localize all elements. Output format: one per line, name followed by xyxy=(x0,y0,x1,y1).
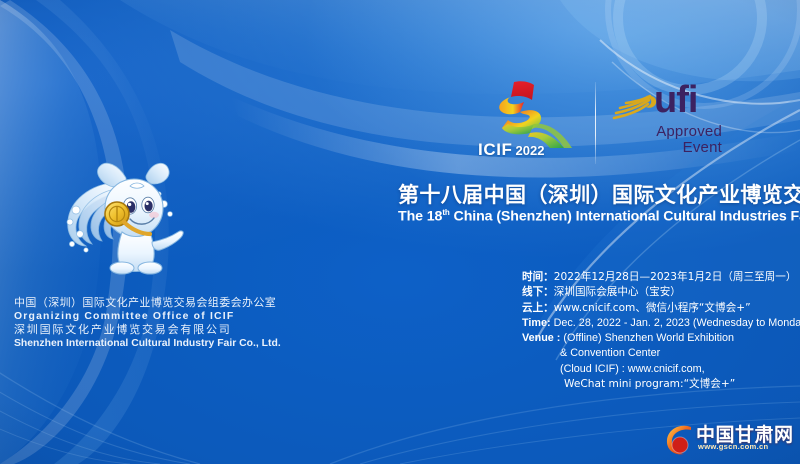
info-row-cloud-cn: 云上：www.cnicif.com、微信小程序“文博会+” xyxy=(522,301,800,316)
organizer-block: 中国（深圳）国际文化产业博览交易会组委会办公室 Organizing Commi… xyxy=(14,296,281,350)
icif-year: 2022 xyxy=(516,143,545,158)
info-value-offline-cn: 深圳国际会展中心（宝安） xyxy=(554,286,681,298)
info-row-offline-cn: 线下：深圳国际会展中心（宝安） xyxy=(522,285,800,300)
organizer-line-cn-2: 深圳国际文化产业博览交易会有限公司 xyxy=(14,323,281,337)
ufi-wordmark: ufi xyxy=(654,81,697,119)
poster-canvas: ICIF2022 ufi Approved Event 第十八届中国（深圳）国际… xyxy=(0,0,800,464)
watermark-url: www.gscn.com.cn xyxy=(698,442,768,451)
info-value-time-en: Dec. 28, 2022 - Jan. 2, 2023 (Wednesday … xyxy=(551,317,800,329)
logo-divider xyxy=(595,82,596,164)
ufi-approved-event-logo: ufi Approved Event xyxy=(612,88,722,166)
info-value-time-cn: 2022年12月28日—2023年1月2日（周三至周一） xyxy=(554,271,797,283)
icif-ribbon-icon xyxy=(472,78,592,148)
organizer-line-en-1: Organizing Committee Office of ICIF xyxy=(14,310,281,324)
info-row-time-en: Time: Dec. 28, 2022 - Jan. 2, 2023 (Wedn… xyxy=(522,316,800,331)
info-value-venue-en: (Offline) Shenzhen World Exhibition xyxy=(560,332,734,344)
organizer-line-en-2: Shenzhen International Cultural Industry… xyxy=(14,337,281,351)
organizer-line-cn-1: 中国（深圳）国际文化产业博览交易会组委会办公室 xyxy=(14,296,281,310)
info-row-cloud-en: (Cloud ICIF) : www.cnicif.com, xyxy=(522,362,800,377)
gscn-flame-icon xyxy=(660,419,700,459)
info-row-wechat-en: WeChat mini program:“文博会+” xyxy=(522,377,800,392)
page-title-english: The 18th China (Shenzhen) International … xyxy=(398,208,800,225)
watermark: 中国甘肃网 www.gscn.com.cn xyxy=(660,418,794,460)
info-row-time-cn: 时间：2022年12月28日—2023年1月2日（周三至周一） xyxy=(522,270,800,285)
ufi-wing-icon xyxy=(612,94,658,122)
info-label-cloud-cn: 云上： xyxy=(522,302,554,314)
page-title-chinese: 第十八届中国（深圳）国际文化产业博览交易会 xyxy=(398,179,800,209)
ufi-approved-label: Approved Event xyxy=(612,124,722,156)
icif-logo: ICIF2022 xyxy=(472,78,602,170)
info-label-offline-cn: 线下： xyxy=(522,286,554,298)
event-info-block: 时间：2022年12月28日—2023年1月2日（周三至周一） 线下：深圳国际会… xyxy=(522,270,800,392)
info-label-venue-en: Venue : xyxy=(522,332,560,344)
icif-wordmark: ICIF2022 xyxy=(478,140,544,160)
info-label-time-en: Time: xyxy=(522,317,551,329)
info-row-venue-en: Venue : (Offline) Shenzhen World Exhibit… xyxy=(522,331,800,346)
info-row-venue-cont: & Convention Center xyxy=(522,346,800,361)
ordinal-suffix: th xyxy=(442,208,449,217)
info-value-cloud-cn: www.cnicif.com、微信小程序“文博会+” xyxy=(554,302,751,314)
info-label-time-cn: 时间： xyxy=(522,271,554,283)
icif-mascot-character xyxy=(60,158,188,280)
